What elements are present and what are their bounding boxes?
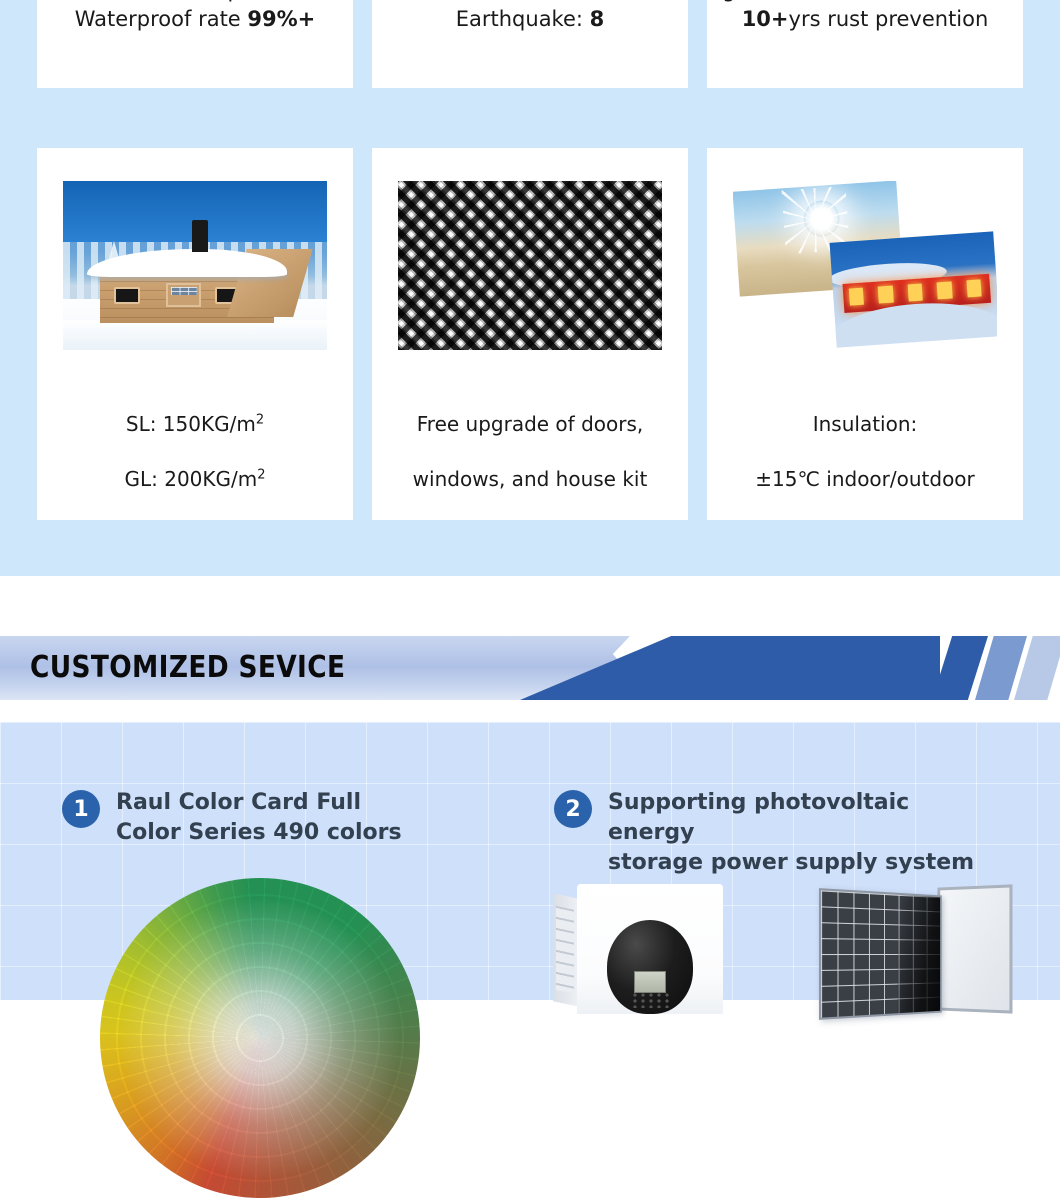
cabin-chimney	[192, 220, 208, 252]
feature-card-free-upgrade: Free upgrade of doors, windows, and hous…	[372, 148, 688, 520]
cabin-window-left	[114, 287, 140, 304]
sun-and-snow-photo	[733, 181, 997, 350]
banner-title: CUSTOMIZED SEVICE	[30, 636, 345, 700]
snowy-night-photo	[830, 231, 997, 347]
lit-window-1	[849, 288, 865, 306]
service-item-1-line-2: Color Series 490 colors	[116, 818, 402, 848]
snowy-cabin-illustration	[63, 181, 327, 350]
top-feature-card-row: 360° Waterproof Waterproof rate 99%+ Win…	[37, 0, 1023, 88]
feature-card-insulation: Insulation: ±15℃ indoor/outdoor	[707, 148, 1023, 520]
service-item-2: 2 Supporting photovoltaic energy storage…	[554, 788, 994, 878]
woven-mesh-illustration	[398, 181, 662, 350]
snowy-cabin-photo	[63, 181, 327, 350]
insulation-line-2: ±15℃ indoor/outdoor	[755, 466, 975, 493]
feature-card-waterproof: 360° Waterproof Waterproof rate 99%+	[37, 0, 353, 88]
snow-load-line-1: SL: 150KG/m2	[124, 411, 265, 438]
feature-card-snow-load: SL: 150KG/m2 GL: 200KG/m2	[37, 148, 353, 520]
insulation-caption: Insulation: ±15℃ indoor/outdoor	[755, 384, 975, 520]
customized-service-banner: CUSTOMIZED SEVICE	[0, 636, 1060, 700]
cabin-door	[166, 283, 201, 306]
earthquake-line: Earthquake: 8	[456, 5, 605, 34]
rust-prevention-line: 10+yrs rust prevention	[742, 5, 989, 34]
snow-load-caption: SL: 150KG/m2 GL: 200KG/m2	[124, 384, 265, 520]
waterproof-line-2: Waterproof rate 99%+	[75, 5, 316, 34]
service-number-badge-2: 2	[554, 790, 592, 828]
service-text-2: Supporting photovoltaic energy storage p…	[608, 788, 994, 878]
feature-card-wind-earthquake: Wind force: 12 Earthquake: 8	[372, 0, 688, 88]
bottom-feature-card-row: SL: 150KG/m2 GL: 200KG/m2 Free upgrade o…	[37, 148, 1023, 520]
free-upgrade-caption: Free upgrade of doors, windows, and hous…	[413, 384, 648, 520]
free-upgrade-line-2: windows, and house kit	[413, 466, 648, 493]
service-text-1: Raul Color Card Full Color Series 490 co…	[116, 788, 402, 848]
solar-panel-front	[819, 888, 942, 1020]
lit-window-4	[937, 281, 953, 299]
inverter-keypad	[631, 992, 669, 1008]
lit-window-3	[908, 283, 924, 301]
snow-load-line-2: GL: 200KG/m2	[124, 466, 265, 493]
product-feature-page: 360° Waterproof Waterproof rate 99%+ Win…	[0, 0, 1060, 1000]
lit-window-2	[878, 286, 894, 304]
inverter-lcd-screen	[634, 971, 666, 993]
solar-panel-graphic	[818, 886, 1013, 1016]
service-item-1: 1 Raul Color Card Full Color Series 490 …	[62, 788, 482, 848]
insulation-line-1: Insulation:	[755, 411, 975, 438]
color-wheel-graphic	[100, 878, 420, 1198]
snow-ground	[63, 320, 327, 350]
lit-window-5	[966, 279, 982, 297]
feature-card-climate-resistance: High Climate-resistance Grade: 10+yrs ru…	[707, 0, 1023, 88]
solar-panel-back	[937, 884, 1012, 1013]
service-item-1-line-1: Raul Color Card Full	[116, 788, 402, 818]
service-item-2-line-1: Supporting photovoltaic energy	[608, 788, 994, 848]
inverter-front-body	[577, 884, 723, 1014]
service-number-badge-1: 1	[62, 790, 100, 828]
inverter-side-vent	[553, 893, 579, 1007]
free-upgrade-line-1: Free upgrade of doors,	[413, 411, 648, 438]
woven-mesh-photo	[398, 181, 662, 350]
features-section: 360° Waterproof Waterproof rate 99%+ Win…	[0, 0, 1060, 576]
inverter-unit-graphic	[553, 884, 723, 1014]
temperature-illustration	[733, 181, 997, 350]
service-item-2-line-2: storage power supply system	[608, 848, 994, 878]
